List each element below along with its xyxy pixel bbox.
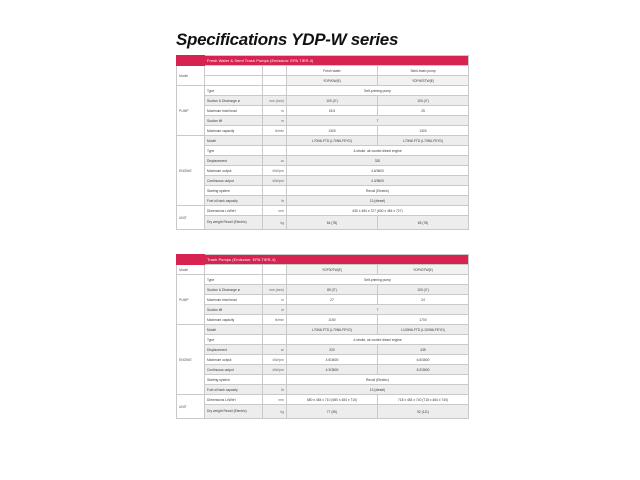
value-suction-lift-2: 7 [287,305,469,315]
row-label-model-2: Model [177,265,205,275]
unit-maximum-capacity-2: ltr/min [263,315,287,325]
table-1-max-total-head-row: Maximum total head m 26.5 25 [177,106,469,116]
label-maximum-total-head-2: Maximum total head [205,295,263,305]
label-maximum-output-2: Maximum output [205,355,263,365]
table-2-starting-system-row: Starting system Recoil (Electric) [177,375,469,385]
label-starting-system: Starting system [205,186,263,196]
label-dimensions-2: Dimensions LxWxH [205,395,263,405]
value-suction-discharge-2: 100 (4") [378,96,469,106]
spec-table-1: Fresh Water & Semi Trash Pumps (Emission… [176,55,469,230]
value-engine-model-4: L100N6-FTD (L100N6-FEYD) [378,325,469,335]
label-maximum-output: Maximum output [205,166,263,176]
table-2-engine-model-row: ENGINE Model L70N6-FTD (L70N6-FEYD) L100… [177,325,469,335]
table-1-starting-system-row: Starting system Recoil (Electric) [177,186,469,196]
unit-maximum-output-2: kW/rpm [263,355,287,365]
table-1-pump-type-row: PUMP Type Self-priming pump [177,86,469,96]
model-name-spacer-item [205,76,263,86]
table-2-suction-lift-row: Suction lift m 7 [177,305,469,315]
label-dry-weight-2: Dry weight Recoil (Electric) [205,405,263,419]
value-displacement: 320 [287,156,469,166]
value-engine-model-1: L70N6-FTD (L70N6-FEYD) [287,136,378,146]
unit-engine-type [263,146,287,156]
unit-maximum-output: kW/rpm [263,166,287,176]
table-2-dimensions-row: UNIT Dimensions LxWxH mm 680 x 484 x 710… [177,395,469,405]
value-max-capacity-4: 1700 [378,315,469,325]
label-suction-discharge: Suction & Discharge ø [205,96,263,106]
unit-starting-system [263,186,287,196]
value-continuous-output: 4.3/3600 [287,176,469,186]
label-type: Type [205,86,263,96]
value-dimensions-2: 718 x 484 x 740 (718 x 484 x 740) [378,395,469,405]
table-1-engine-type-row: Type 4-stroke, air cooled diesel engine [177,146,469,156]
value-dimensions-1: 680 x 484 x 710 (680 x 484 x 710) [287,395,378,405]
label-starting-system-2: Starting system [205,375,263,385]
label-suction-discharge-2: Suction & Discharge ø [205,285,263,295]
label-continuous-output-2: Continuous output [205,365,263,375]
table-2-header-title: Trash Pumps (Emission: EPA TIER-4) [205,255,469,265]
column-header-fresh-water: Fresh water [287,66,378,76]
value-continuous-output-2: 6.2/3600 [378,365,469,375]
label-fuel-oil-tank-capacity-2: Fuel oil tank capacity [205,385,263,395]
value-suction-discharge-4: 100 (4") [378,285,469,295]
table-2-suction-discharge-row: Suction & Discharge ø mm (inch) 80 (3") … [177,285,469,295]
table-2-header-row: Trash Pumps (Emission: EPA TIER-4) [177,255,469,265]
label-fuel-oil-tank-capacity: Fuel oil tank capacity [205,196,263,206]
unit-continuous-output-2: kW/rpm [263,365,287,375]
table-1-suction-lift-row: Suction lift m 7 [177,116,469,126]
label-maximum-capacity-2: Maximum capacity [205,315,263,325]
unit-type [263,86,287,96]
value-maximum-output-1: 4.6/3600 [287,355,378,365]
label-dry-weight: Dry weight Recoil (Electric) [205,216,263,230]
value-suction-discharge-1: 100 (4") [287,96,378,106]
unit-fuel-oil-tank-capacity-2: ltr [263,385,287,395]
value-max-total-head-3: 27 [287,295,378,305]
value-max-total-head-1: 26.5 [287,106,378,116]
value-max-capacity-3: 1150 [287,315,378,325]
table-2-dry-weight-row: Dry weight Recoil (Electric) kg 77 (90) … [177,405,469,419]
unit-engine-type-2 [263,335,287,345]
label-engine-model-2: Model [205,325,263,335]
label-type-2: Type [205,275,263,285]
value-displacement-2: 435 [378,345,469,355]
table-2-maximum-output-row: Maximum output kW/rpm 4.6/3600 6.6/3600 [177,355,469,365]
unit-displacement-2: cc [263,345,287,355]
unit-dry-weight-2: kg [263,405,287,419]
value-dry-weight-4: 92 (111) [378,405,469,419]
unit-suction-discharge-2: mm (inch) [263,285,287,295]
unit-maximum-total-head-2: m [263,295,287,305]
unit-dimensions-2: mm [263,395,287,405]
table-trash-pumps: Trash Pumps (Emission: EPA TIER-4) Model… [176,254,468,419]
value-max-capacity-2: 1300 [378,126,469,136]
table-2-continuous-output-row: Continuous output kW/rpm 4.3/3600 6.2/36… [177,365,469,375]
value-starting-system-2: Recoil (Electric) [287,375,469,385]
table-1-header-row: Fresh Water & Semi Trash Pumps (Emission… [177,56,469,66]
model-name-4: YDP40TW(E) [378,265,469,275]
page-title: Specifications YDP-W series [176,30,398,50]
value-starting-system: Recoil (Electric) [287,186,469,196]
model-name-2: YDP40STW(E) [378,76,469,86]
model-name-spacer-unit-2 [263,265,287,275]
table-1-continuous-output-row: Continuous output kW/rpm 4.3/3600 [177,176,469,186]
table-2-max-capacity-row: Maximum capacity ltr/min 1150 1700 [177,315,469,325]
label-displacement-2: Displacement [205,345,263,355]
model-name-spacer-item-2 [205,265,263,275]
value-fuel-oil-tank-capacity-2: 13 (diesel) [287,385,469,395]
label-maximum-capacity: Maximum capacity [205,126,263,136]
table-1-header-title: Fresh Water & Semi Trash Pumps (Emission… [205,56,469,66]
unit-suction-lift: m [263,116,287,126]
unit-starting-system-2 [263,375,287,385]
unit-suction-discharge: mm (inch) [263,96,287,106]
table-1-model-name-row: YDP40W(E) YDP40STW(E) [177,76,469,86]
value-engine-type: 4-stroke, air cooled diesel engine [287,146,469,156]
table-1-dimensions-row: UNIT Dimensions LxWxH mm 630 x 484 x 727… [177,206,469,216]
label-dimensions: Dimensions LxWxH [205,206,263,216]
row-group-pump-2: PUMP [177,275,205,325]
unit-dry-weight: kg [263,216,287,230]
label-continuous-output: Continuous output [205,176,263,186]
label-engine-model: Model [205,136,263,146]
row-label-model: Model [177,66,205,86]
spec-table-2: Trash Pumps (Emission: EPA TIER-4) Model… [176,254,469,419]
value-pump-type-2: Self-priming pump [287,275,469,285]
unit-engine-model-2 [263,325,287,335]
value-max-total-head-2: 25 [378,106,469,116]
unit-maximum-total-head: m [263,106,287,116]
value-dry-weight-1: 64 (78) [287,216,378,230]
column-header-semi-trash-pump: Semi-trash pump [378,66,469,76]
unit-engine-model [263,136,287,146]
table-1-displacement-row: Displacement cc 320 [177,156,469,166]
table-2-engine-type-row: Type 4-stroke, air cooled diesel engine [177,335,469,345]
value-max-capacity-1: 1300 [287,126,378,136]
model-header-spacer-item [205,66,263,76]
table-2-pump-type-row: PUMP Type Self-priming pump [177,275,469,285]
value-pump-type: Self-priming pump [287,86,469,96]
label-suction-lift-2: Suction lift [205,305,263,315]
row-group-unit-2: UNIT [177,395,205,419]
value-maximum-output: 4.6/3600 [287,166,469,176]
table-fresh-water-semi-trash-pumps: Fresh Water & Semi Trash Pumps (Emission… [176,55,468,230]
model-header-spacer-unit [263,66,287,76]
table-2-fuel-tank-row: Fuel oil tank capacity ltr 13 (diesel) [177,385,469,395]
table-2-model-name-row: Model YDP30TW(E) YDP40TW(E) [177,265,469,275]
label-maximum-total-head: Maximum total head [205,106,263,116]
table-1-model-header-row: Model Fresh water Semi-trash pump [177,66,469,76]
row-group-engine-2: ENGINE [177,325,205,395]
unit-continuous-output: kW/rpm [263,176,287,186]
unit-dimensions: mm [263,206,287,216]
value-dry-weight-2: 65 (78) [378,216,469,230]
row-group-unit: UNIT [177,206,205,230]
model-name-1: YDP40W(E) [287,76,378,86]
table-1-suction-discharge-row: Suction & Discharge ø mm (inch) 100 (4")… [177,96,469,106]
value-suction-lift: 7 [287,116,469,126]
unit-displacement: cc [263,156,287,166]
label-engine-type: Type [205,146,263,156]
table-1-fuel-tank-row: Fuel oil tank capacity ltr 13 (diesel) [177,196,469,206]
value-displacement-1: 320 [287,345,378,355]
value-max-total-head-4: 24 [378,295,469,305]
value-continuous-output-1: 4.3/3600 [287,365,378,375]
table-2-max-total-head-row: Maximum total head m 27 24 [177,295,469,305]
row-group-pump: PUMP [177,86,205,136]
label-engine-type-2: Type [205,335,263,345]
table-2-displacement-row: Displacement cc 320 435 [177,345,469,355]
model-name-3: YDP30TW(E) [287,265,378,275]
unit-suction-lift-2: m [263,305,287,315]
unit-type-2 [263,275,287,285]
value-dry-weight-3: 77 (90) [287,405,378,419]
unit-maximum-capacity: ltr/min [263,126,287,136]
table-1-dry-weight-row: Dry weight Recoil (Electric) kg 64 (78) … [177,216,469,230]
value-fuel-oil-tank-capacity: 13 (diesel) [287,196,469,206]
header-spacer-cell [177,56,205,66]
table-1-maximum-output-row: Maximum output kW/rpm 4.6/3600 [177,166,469,176]
label-suction-lift: Suction lift [205,116,263,126]
value-engine-model-2: L70N6-FTD (L70N6-FEYD) [378,136,469,146]
row-group-engine: ENGINE [177,136,205,206]
value-dimensions: 630 x 484 x 727 (630 x 484 x 727) [287,206,469,216]
table-1-max-capacity-row: Maximum capacity ltr/min 1300 1300 [177,126,469,136]
value-suction-discharge-3: 80 (3") [287,285,378,295]
unit-fuel-oil-tank-capacity: ltr [263,196,287,206]
header-spacer-cell-2 [177,255,205,265]
table-1-engine-model-row: ENGINE Model L70N6-FTD (L70N6-FEYD) L70N… [177,136,469,146]
label-displacement: Displacement [205,156,263,166]
value-engine-model-3: L70N6-FTD (L70N6-FEYD) [287,325,378,335]
value-maximum-output-2: 6.6/3600 [378,355,469,365]
model-name-spacer-unit [263,76,287,86]
specification-sheet-page: Specifications YDP-W series Fresh Water … [0,0,640,480]
value-engine-type-2: 4-stroke, air cooled diesel engine [287,335,469,345]
